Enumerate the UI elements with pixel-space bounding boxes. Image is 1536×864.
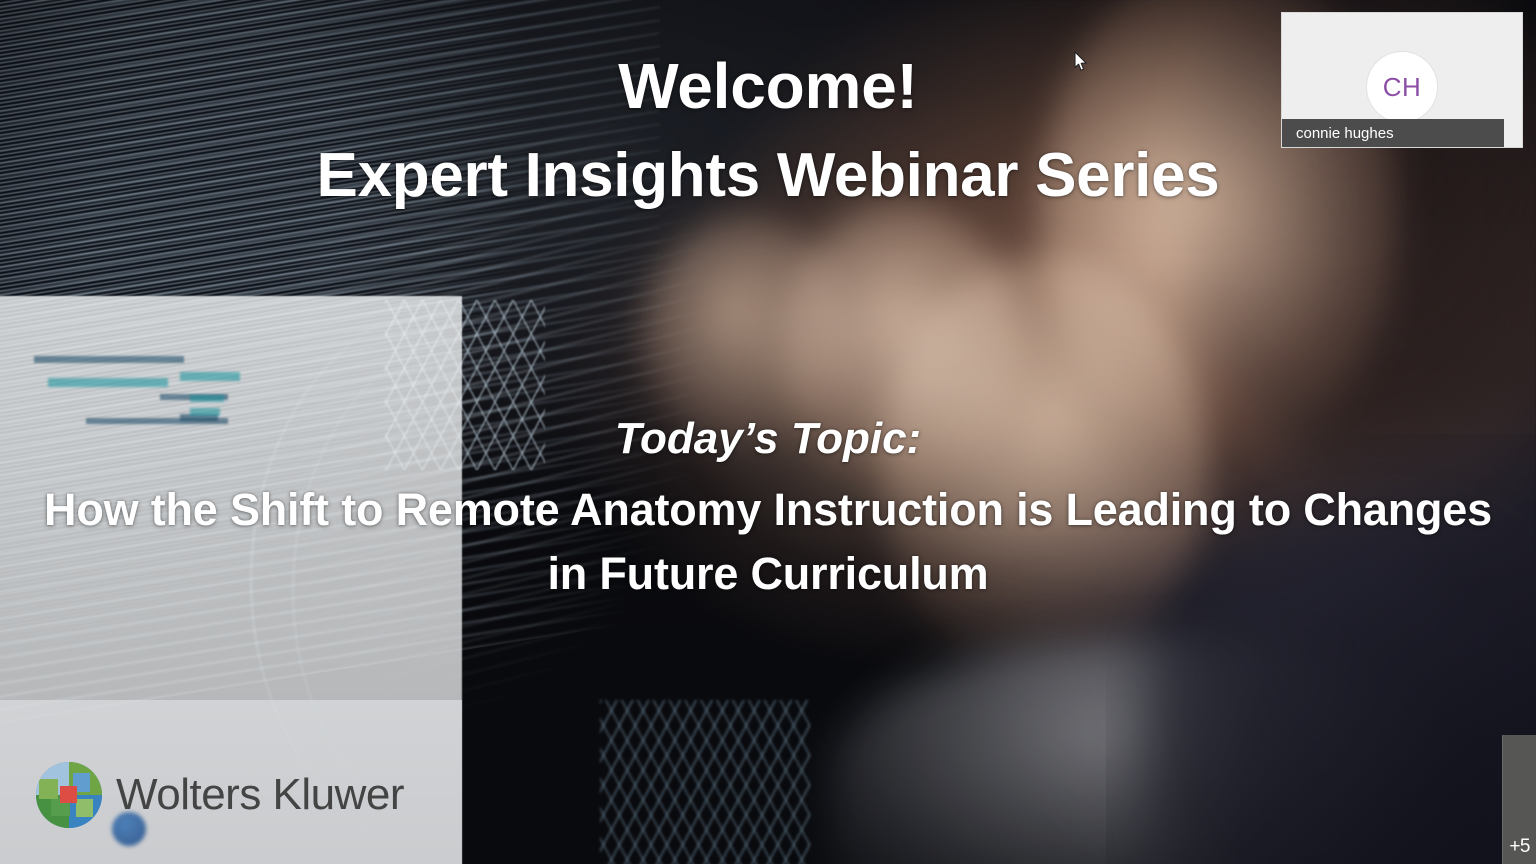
slide-topic-title: How the Shift to Remote Anatomy Instruct… <box>24 478 1512 606</box>
participant-name-label: connie hughes <box>1282 125 1394 142</box>
slide-topic-label: Today’s Topic: <box>0 415 1536 463</box>
avatar-initials: CH <box>1383 72 1422 103</box>
avatar: CH <box>1366 51 1438 123</box>
wolters-kluwer-logo: Wolters Kluwer <box>36 762 404 828</box>
wolters-kluwer-wordmark: Wolters Kluwer <box>116 770 404 820</box>
wolters-kluwer-mark-icon <box>36 762 102 828</box>
screen-share-stage: Welcome! Expert Insights Webinar Series … <box>0 0 1536 864</box>
participant-video-tile[interactable]: CH connie hughes <box>1281 12 1523 148</box>
overflow-participants-tile[interactable]: +5 <box>1502 735 1536 864</box>
participant-name-bar: connie hughes <box>1282 119 1504 147</box>
overflow-participants-count: +5 <box>1509 836 1530 858</box>
slide-headline-series: Expert Insights Webinar Series <box>0 142 1536 210</box>
